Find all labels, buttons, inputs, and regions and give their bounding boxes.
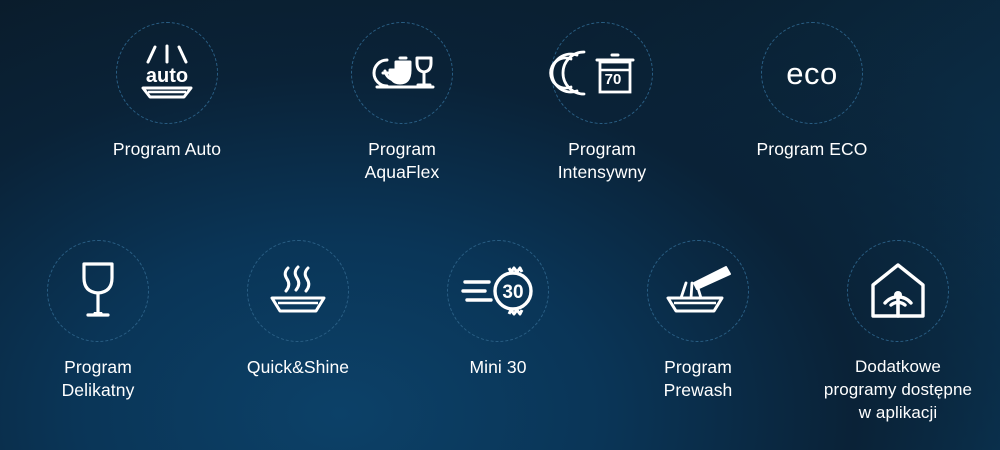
program-label: Mini 30: [469, 356, 526, 379]
program-label: Program Intensywny: [558, 138, 647, 184]
icon-ring: [647, 240, 749, 342]
program-label: Dodatkowe programy dostępne w aplikacji: [824, 356, 972, 424]
program-label: Quick&Shine: [247, 356, 349, 379]
program-label: Program AquaFlex: [365, 138, 440, 184]
program-item-delikatny[interactable]: Program Delikatny: [0, 240, 198, 424]
program-label: Program Prewash: [664, 356, 733, 402]
spray-arm-plate-icon: [664, 265, 732, 317]
plates-pot-70-icon: 70: [568, 46, 636, 100]
program-item-aquaflex[interactable]: Program AquaFlex: [302, 22, 502, 184]
program-item-mini30[interactable]: 30 Mini 30: [398, 240, 598, 424]
icon-ring: eco: [761, 22, 863, 124]
program-item-auto[interactable]: auto Program Auto: [32, 22, 302, 184]
steaming-plate-icon: [266, 265, 330, 317]
program-item-intensywny[interactable]: 70 Program Intensywny: [502, 22, 702, 184]
wine-glass-icon: [76, 260, 120, 322]
program-label: Program ECO: [757, 138, 868, 161]
stopwatch-30-icon: 30: [463, 264, 533, 318]
minutes-icon-text: 30: [502, 282, 523, 303]
program-item-app[interactable]: Dodatkowe programy dostępne w aplikacji: [798, 240, 998, 424]
program-label: Program Delikatny: [62, 356, 135, 402]
icon-ring: 70: [551, 22, 653, 124]
auto-plate-icon: auto: [135, 44, 199, 102]
auto-icon-text: auto: [146, 65, 188, 87]
eco-text-icon: eco: [786, 58, 837, 89]
icon-ring: [351, 22, 453, 124]
program-label: Program Auto: [113, 138, 221, 161]
icon-ring: [247, 240, 349, 342]
icon-ring: [847, 240, 949, 342]
program-icons-panel: auto Program Auto: [0, 0, 1000, 450]
program-item-eco[interactable]: eco Program ECO: [702, 22, 922, 184]
dishes-glass-icon: [369, 46, 435, 100]
icon-ring: 30: [447, 240, 549, 342]
program-row-bottom: Program Delikatny Quick&Shine: [0, 240, 1000, 424]
program-row-top: auto Program Auto: [0, 22, 1000, 184]
icon-ring: auto: [116, 22, 218, 124]
smart-home-wifi-icon: [869, 262, 927, 320]
program-item-prewash[interactable]: Program Prewash: [598, 240, 798, 424]
temperature-icon-text: 70: [605, 71, 622, 88]
icon-ring: [47, 240, 149, 342]
program-item-quickshine[interactable]: Quick&Shine: [198, 240, 398, 424]
